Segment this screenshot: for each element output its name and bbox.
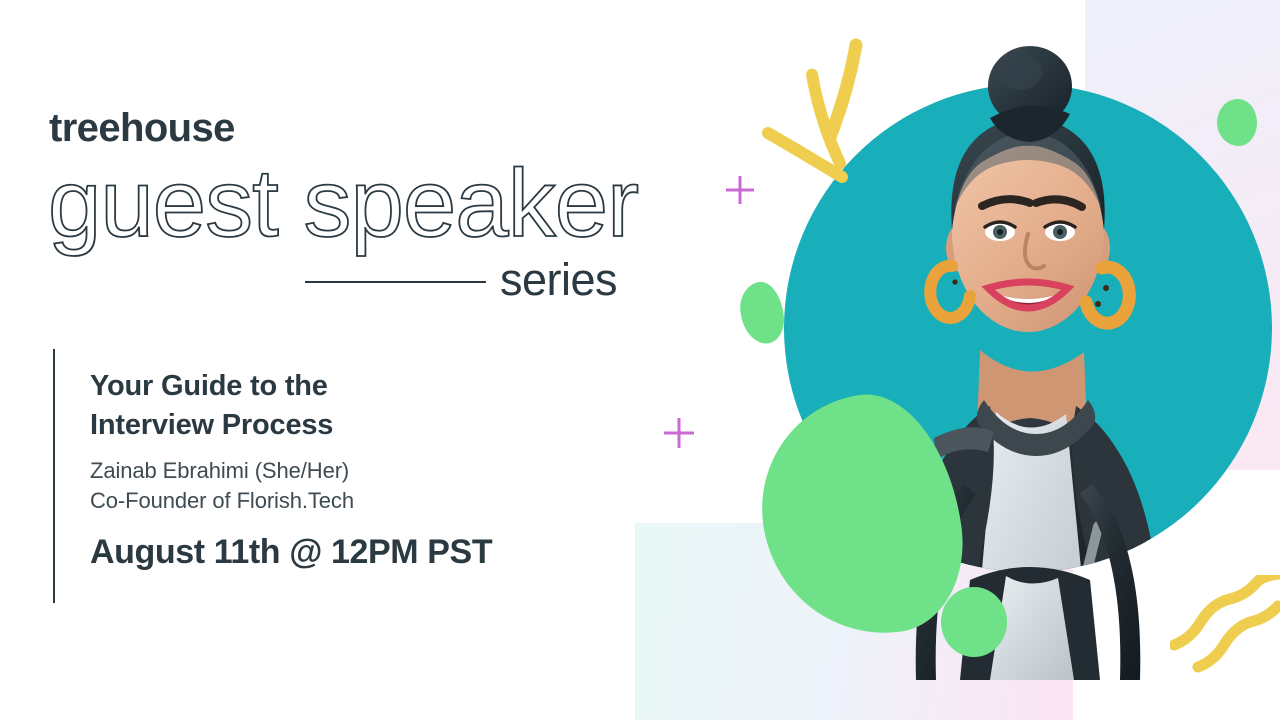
plus-mark-icon-upper	[724, 174, 756, 206]
series-label: series	[500, 257, 617, 302]
headline-outline-text: guest speaker	[44, 152, 664, 262]
yellow-wave-lines-icon	[1170, 575, 1280, 685]
brand-wordmark: treehouse	[49, 108, 235, 148]
speaker-role: Co-Founder of Florish.Tech	[90, 486, 650, 516]
vertical-accent-rule	[53, 349, 55, 603]
session-title: Your Guide to the Interview Process	[90, 367, 650, 444]
session-datetime: August 11th @ 12PM PST	[90, 534, 650, 571]
guest-speaker-promo-slide: treehouse guest speaker series Your Guid…	[0, 0, 1280, 720]
series-divider-rule	[305, 281, 486, 283]
green-blob-small-left	[735, 278, 789, 347]
svg-text:guest speaker: guest speaker	[48, 152, 638, 257]
session-info-block: Your Guide to the Interview Process Zain…	[90, 367, 650, 571]
plus-mark-icon-lower	[662, 416, 696, 450]
speaker-name: Zainab Ebrahimi (She/Her)	[90, 456, 650, 486]
green-circle-bottom	[941, 587, 1007, 657]
yellow-sparkle-icon	[750, 35, 890, 195]
